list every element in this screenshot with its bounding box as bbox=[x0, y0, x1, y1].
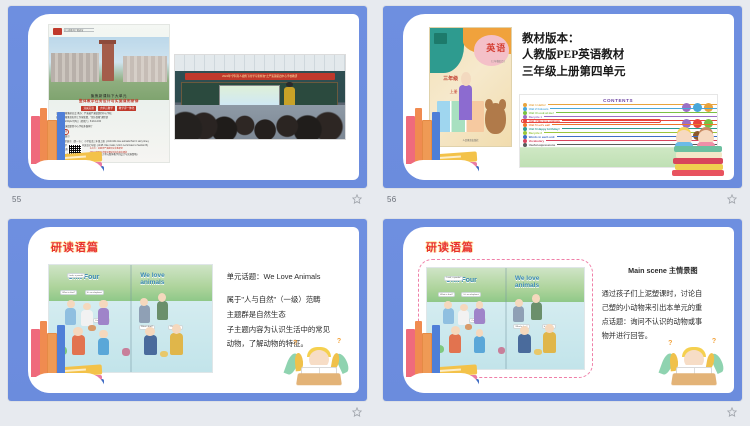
book-spine-2 bbox=[415, 108, 422, 164]
star-outline-icon[interactable] bbox=[725, 406, 738, 419]
main-scene-line-2: 点话题：询问不认识的动物或事 bbox=[602, 317, 703, 326]
spread-unit-subtitle: We love animals bbox=[515, 276, 539, 290]
cover-volume: 上册 bbox=[450, 89, 458, 95]
clay-animal-2 bbox=[498, 347, 506, 354]
cloud-shape bbox=[28, 373, 106, 393]
slide-number-55: 55 bbox=[12, 195, 22, 204]
poster-title-line2: 整体教学任务设计与实施课例研修 bbox=[58, 99, 159, 104]
contents-item-label: Useful expressions bbox=[529, 143, 556, 147]
spread-gutter bbox=[130, 265, 132, 373]
child-figure-9 bbox=[170, 333, 183, 355]
clay-animal-2 bbox=[122, 348, 130, 356]
classroom-banner-text: 2024年"学科育人视角下的学习新样态"之严溪镇第四中心学校教研 bbox=[185, 73, 335, 81]
building-left bbox=[51, 53, 99, 82]
book-spine-1 bbox=[406, 116, 415, 164]
book-spine-3 bbox=[422, 120, 432, 164]
child-figure-6 bbox=[513, 306, 524, 322]
contents-bullet-icon bbox=[523, 143, 527, 147]
speech-bubble-0: Look, a panda! bbox=[67, 273, 86, 278]
main-scene-line-1: 己塑的小动物来引出本单元的重 bbox=[602, 303, 703, 312]
book-spine-4 bbox=[57, 112, 65, 164]
spread-unit-subtitle: We love animals bbox=[140, 273, 164, 287]
book-spine-1 bbox=[31, 116, 40, 164]
child-figure-8 bbox=[518, 334, 531, 352]
book-spine-4 bbox=[432, 112, 440, 164]
projection-screen bbox=[219, 85, 280, 107]
star-outline-icon[interactable] bbox=[350, 406, 363, 419]
unit-desc-line-0: 属于"人与自然"（一级）范畴 bbox=[227, 295, 321, 304]
book-spine-3 bbox=[47, 333, 57, 377]
books-decoration-left bbox=[403, 110, 463, 180]
cover-bear-figure bbox=[485, 103, 506, 134]
poster-logo-icon bbox=[53, 28, 62, 35]
section-tag-57: 研读语篇 bbox=[51, 239, 99, 255]
spread-gutter bbox=[505, 268, 507, 369]
slide-cell-56[interactable]: 英语 (三年级起点) 三年级 上册 人民教育出版社 教材版本： 人教版PEP英语… bbox=[375, 0, 750, 213]
books-decoration-left bbox=[28, 323, 88, 393]
clock-tower bbox=[102, 42, 114, 81]
clay-animal-3 bbox=[160, 351, 168, 357]
poster-tag-1: 大单元教学 bbox=[98, 106, 115, 111]
clay-animal-3 bbox=[534, 349, 542, 355]
slide-card-58[interactable]: 研读语篇 Unit Four We love animals Look, a p… bbox=[383, 219, 742, 401]
students-audience bbox=[175, 105, 345, 139]
main-scene-heading: Main scene 主情景图 bbox=[602, 264, 725, 278]
desk bbox=[671, 373, 717, 385]
cover-badge bbox=[434, 33, 447, 44]
section-tag-58: 研读语篇 bbox=[426, 239, 474, 255]
cloud-shape bbox=[28, 160, 106, 180]
slide-content-55: 浙江省教育厅教研室 聚焦新课标下大单元 整体教学任务设计与实施课例研修 双减英语… bbox=[28, 14, 359, 180]
poster-tag-2: 教学评一体化 bbox=[117, 106, 137, 111]
question-mark-icon-2: ? bbox=[337, 338, 341, 345]
slide-card-55[interactable]: 浙江省教育厅教研室 聚焦新课标下大单元 整体教学任务设计与实施课例研修 双减英语… bbox=[8, 6, 367, 188]
slide-footer-56: 56 bbox=[383, 188, 742, 210]
contents-rule bbox=[556, 112, 717, 113]
speech-bubble-0: Look, a panda! bbox=[444, 276, 463, 281]
classroom-photo: 2024年"学科育人视角下的学习新样态"之严溪镇第四中心学校教研 bbox=[174, 54, 346, 140]
cover-subject-note: (三年级起点) bbox=[491, 59, 505, 63]
girl-reading-decoration: ? ? bbox=[285, 331, 351, 387]
book-spine-4 bbox=[432, 325, 440, 377]
speech-bubble-2: It's an elephant. bbox=[461, 292, 481, 297]
contents-heading: CONTENTS bbox=[520, 95, 717, 103]
slide-cell-57[interactable]: 研读语篇 Unit Four We love animals Look, a p… bbox=[0, 213, 375, 426]
main-scene-line-3: 物并进行回答。 bbox=[602, 331, 652, 340]
girl-reading-decoration: ? ? bbox=[660, 331, 726, 387]
slide-content-58: 研读语篇 Unit Four We love animals Look, a p… bbox=[403, 227, 734, 393]
poster-campus-photo bbox=[49, 37, 170, 100]
unit-topic: 单元话题：We Love Animals bbox=[227, 270, 346, 285]
book-spine-2 bbox=[415, 321, 422, 377]
kids-on-books-decoration bbox=[666, 118, 728, 176]
book-spine-1 bbox=[406, 329, 415, 377]
child-figure-8 bbox=[144, 335, 157, 354]
cover-grade: 三年级 bbox=[443, 75, 458, 82]
book-spine-3 bbox=[47, 120, 57, 164]
book-spine-4 bbox=[57, 325, 65, 377]
slide-content-56: 英语 (三年级起点) 三年级 上册 人民教育出版社 教材版本： 人教版PEP英语… bbox=[403, 14, 734, 180]
question-mark-icon-1: ? bbox=[293, 340, 297, 347]
question-mark-icon-2: ? bbox=[712, 338, 716, 345]
question-mark-icon-1: ? bbox=[668, 340, 672, 347]
building-right bbox=[123, 56, 166, 83]
cloud-shape bbox=[403, 160, 481, 180]
main-scene-line-0: 通过孩子们上泥塑课时，讨论自 bbox=[602, 289, 703, 298]
books-decoration-left bbox=[403, 323, 463, 393]
spread-subtitle-line2: animals bbox=[515, 283, 539, 290]
book-spine-1 bbox=[31, 329, 40, 377]
child-figure-3 bbox=[474, 308, 485, 324]
child-figure-6 bbox=[139, 305, 150, 322]
unit-desc-line-1: 主题群是自然生态 bbox=[227, 310, 286, 319]
speech-bubble-2: It's an elephant. bbox=[85, 290, 105, 295]
child-figure-5 bbox=[474, 336, 485, 352]
child-figure-5 bbox=[98, 338, 109, 355]
book-spine-3 bbox=[422, 333, 432, 377]
slide-cell-58[interactable]: 研读语篇 Unit Four We love animals Look, a p… bbox=[375, 213, 750, 426]
child-figure-1 bbox=[443, 308, 454, 324]
child-figure-3 bbox=[98, 308, 109, 325]
clay-animal-1 bbox=[88, 325, 96, 331]
slide-footer-55: 55 bbox=[8, 188, 367, 210]
star-outline-icon[interactable] bbox=[725, 193, 738, 206]
speech-bubble-1: What is that? bbox=[438, 292, 455, 297]
books-decoration-left bbox=[28, 110, 88, 180]
title-line-3: 三年级上册第四单元 bbox=[522, 64, 721, 81]
cover-subject: 英语 bbox=[486, 41, 506, 54]
slide-footer-58 bbox=[383, 401, 742, 423]
desk bbox=[296, 373, 342, 385]
cloud-shape bbox=[403, 373, 481, 393]
book-spine-2 bbox=[40, 108, 47, 164]
slide-card-57[interactable]: 研读语篇 Unit Four We love animals Look, a p… bbox=[8, 219, 367, 401]
child-figure-7 bbox=[157, 301, 168, 320]
slide-number-56: 56 bbox=[387, 195, 397, 204]
child-figure-7 bbox=[531, 302, 542, 320]
ceiling-lights bbox=[175, 55, 345, 71]
star-outline-icon[interactable] bbox=[350, 193, 363, 206]
slide-card-56[interactable]: 英语 (三年级起点) 三年级 上册 人民教育出版社 教材版本： 人教版PEP英语… bbox=[383, 6, 742, 188]
slide-content-57: 研读语篇 Unit Four We love animals Look, a p… bbox=[28, 227, 359, 393]
slide-footer-57 bbox=[8, 401, 367, 423]
speech-bubble-1: What is that? bbox=[60, 290, 77, 295]
title-line-1: 教材版本： bbox=[522, 31, 721, 48]
slide-56-title: 教材版本： 人教版PEP英语教材 三年级上册第四单元 bbox=[522, 31, 721, 81]
contents-rule bbox=[550, 108, 716, 109]
poster-title: 聚焦新课标下大单元 整体教学任务设计与实施课例研修 双减英语 大单元教学 教学评… bbox=[58, 94, 159, 111]
contents-rule bbox=[548, 104, 717, 105]
spread-subtitle-line2: animals bbox=[140, 280, 164, 287]
slide-thumbnail-grid: 浙江省教育厅教研室 聚焦新课标下大单元 整体教学任务设计与实施课例研修 双减英语… bbox=[0, 0, 750, 426]
poster-org-text: 浙江省教育厅教研室 bbox=[64, 28, 94, 34]
child-figure-9 bbox=[543, 332, 556, 352]
slide-cell-55[interactable]: 浙江省教育厅教研室 聚焦新课标下大单元 整体教学任务设计与实施课例研修 双减英语… bbox=[0, 0, 375, 213]
kids-book-1 bbox=[672, 170, 724, 176]
title-line-2: 人教版PEP英语教材 bbox=[522, 47, 721, 64]
book-spine-2 bbox=[40, 321, 47, 377]
